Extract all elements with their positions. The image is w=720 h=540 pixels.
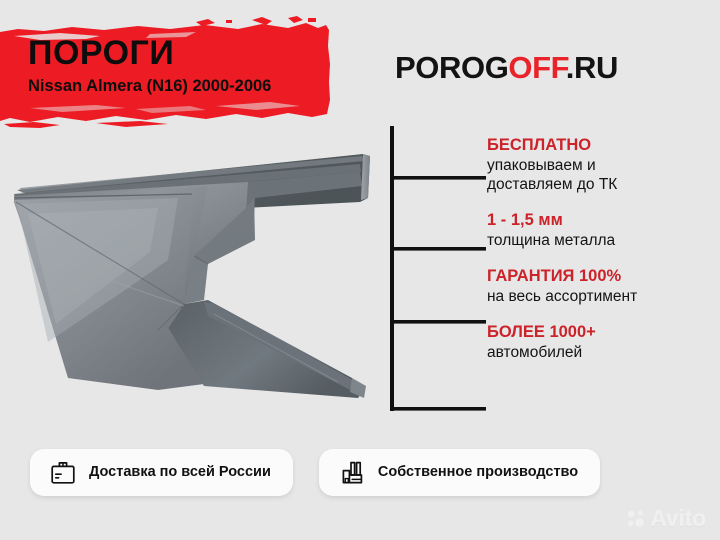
page-title: ПОРОГИ	[28, 36, 318, 70]
feature-headline: БЕСПЛАТНО	[487, 136, 712, 155]
banner-text-block: ПОРОГИ Nissan Almera (N16) 2000-2006	[28, 36, 318, 95]
feature-description: на весь ассортимент	[487, 287, 712, 306]
feature-item: БЕСПЛАТНО упаковываем идоставляем до ТК	[487, 136, 712, 194]
feature-headline: ГАРАНТИЯ 100%	[487, 267, 712, 286]
badge-production-label: Собственное производство	[378, 465, 578, 480]
features-list: БЕСПЛАТНО упаковываем идоставляем до ТК …	[487, 136, 712, 362]
badge-own-production: Собственное производство	[319, 449, 600, 496]
feature-description: упаковываем идоставляем до ТК	[487, 156, 712, 194]
feature-item: БОЛЕЕ 1000+ автомобилей	[487, 323, 712, 362]
sill-panel-illustration	[8, 128, 388, 418]
feature-item: ГАРАНТИЯ 100% на весь ассортимент	[487, 267, 712, 306]
feature-bracket-lines	[388, 126, 500, 416]
feature-description: толщина металла	[487, 231, 712, 250]
feature-description-line2: доставляем до ТК	[487, 176, 617, 193]
logo-part-porog: POROG	[395, 50, 508, 85]
feature-item: 1 - 1,5 мм толщина металла	[487, 211, 712, 250]
listing-image: ПОРОГИ Nissan Almera (N16) 2000-2006 POR…	[0, 0, 720, 540]
feature-description-line1: упаковываем и	[487, 157, 596, 174]
vehicle-model-subtitle: Nissan Almera (N16) 2000-2006	[28, 78, 318, 95]
feature-headline: 1 - 1,5 мм	[487, 211, 712, 230]
brand-logo: POROGOFF.RU	[395, 52, 618, 83]
logo-part-off: OFF	[508, 50, 565, 85]
bracket-shape	[388, 126, 500, 416]
logo-part-ru: .RU	[566, 50, 618, 85]
trust-badges: Доставка по всей России Собственное прои…	[30, 449, 600, 496]
product-photo-sill-panel	[8, 128, 388, 418]
red-brush-banner: ПОРОГИ Nissan Almera (N16) 2000-2006	[0, 16, 330, 130]
badge-delivery-label: Доставка по всей России	[89, 465, 271, 480]
badge-delivery: Доставка по всей России	[30, 449, 293, 496]
avito-dots-icon	[626, 509, 646, 529]
box-icon	[50, 460, 76, 486]
avito-watermark: Avito	[626, 507, 706, 530]
feature-headline: БОЛЕЕ 1000+	[487, 323, 712, 342]
avito-watermark-text: Avito	[650, 507, 706, 530]
factory-icon	[339, 460, 365, 486]
feature-description: автомобилей	[487, 343, 712, 362]
